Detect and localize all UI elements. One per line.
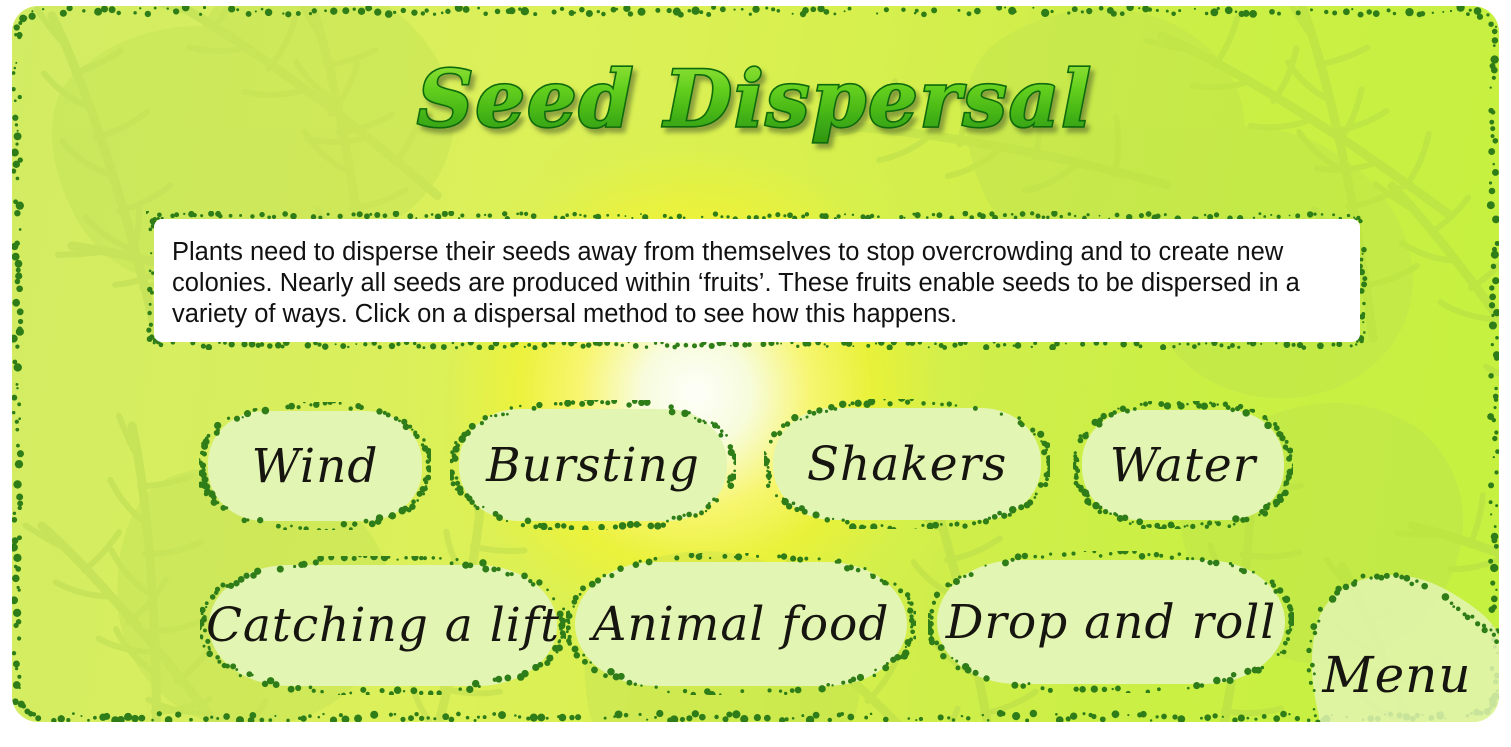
dispersal-button-label: Water <box>1110 438 1256 493</box>
menu-button[interactable]: Menu <box>1305 566 1499 722</box>
dispersal-button-label: Bursting <box>486 438 700 493</box>
dispersal-button-bursting[interactable]: Bursting <box>459 409 727 521</box>
menu-button-label: Menu <box>1305 646 1489 704</box>
dispersal-button-label: Shakers <box>807 437 1007 492</box>
intro-text: Plants need to disperse their seeds away… <box>172 237 1338 330</box>
dispersal-button-drop-and-roll[interactable]: Drop and roll <box>937 560 1285 684</box>
dispersal-button-label: Wind <box>252 439 379 494</box>
app-stage: Seed Dispersal Plants need to disperse t… <box>0 0 1511 747</box>
activity-board: Seed Dispersal Plants need to disperse t… <box>12 6 1499 722</box>
page-title: Seed Dispersal <box>12 50 1499 165</box>
dispersal-button-shakers[interactable]: Shakers <box>773 408 1041 520</box>
dispersal-button-wind[interactable]: Wind <box>208 411 422 521</box>
dispersal-button-water[interactable]: Water <box>1082 410 1284 520</box>
dispersal-button-label: Animal food <box>593 597 890 652</box>
dispersal-button-label: Catching a lift <box>206 598 560 653</box>
page-title-text: Seed Dispersal <box>417 54 1093 145</box>
dispersal-button-animal-food[interactable]: Animal food <box>575 562 907 686</box>
intro-text-box: Plants need to disperse their seeds away… <box>154 219 1360 342</box>
dispersal-button-label: Drop and roll <box>946 595 1277 650</box>
dispersal-button-catching-a-lift[interactable]: Catching a lift <box>209 565 557 686</box>
